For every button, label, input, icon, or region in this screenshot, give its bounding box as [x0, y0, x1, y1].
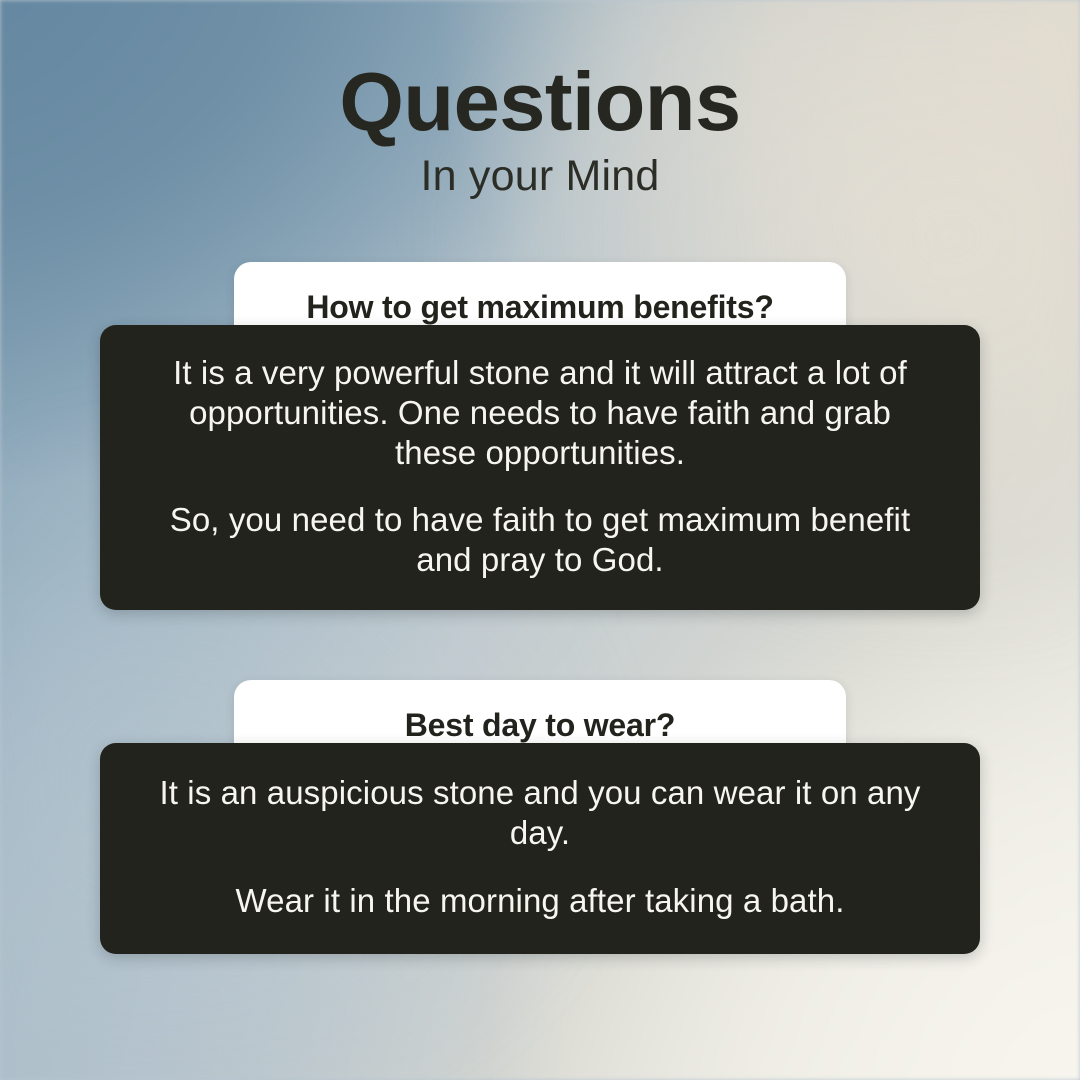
poster-canvas: Questions In your Mind How to get maximu…: [0, 0, 1080, 1080]
answer-paragraph-2-1: It is an auspicious stone and you can we…: [146, 773, 934, 854]
answer-paragraph-2-2: Wear it in the morning after taking a ba…: [146, 881, 934, 921]
answer-paragraph-1-1: It is a very powerful stone and it will …: [146, 353, 934, 474]
qa-block-1: How to get maximum benefits? It is a ver…: [0, 262, 1080, 610]
page-title: Questions: [0, 60, 1080, 143]
answer-paragraph-1-2: So, you need to have faith to get maximu…: [146, 500, 934, 581]
header: Questions In your Mind: [0, 60, 1080, 198]
answer-card-1: It is a very powerful stone and it will …: [100, 325, 980, 610]
qa-block-2: Best day to wear? It is an auspicious st…: [0, 680, 1080, 954]
answer-card-2: It is an auspicious stone and you can we…: [100, 743, 980, 954]
page-subtitle: In your Mind: [0, 155, 1080, 198]
